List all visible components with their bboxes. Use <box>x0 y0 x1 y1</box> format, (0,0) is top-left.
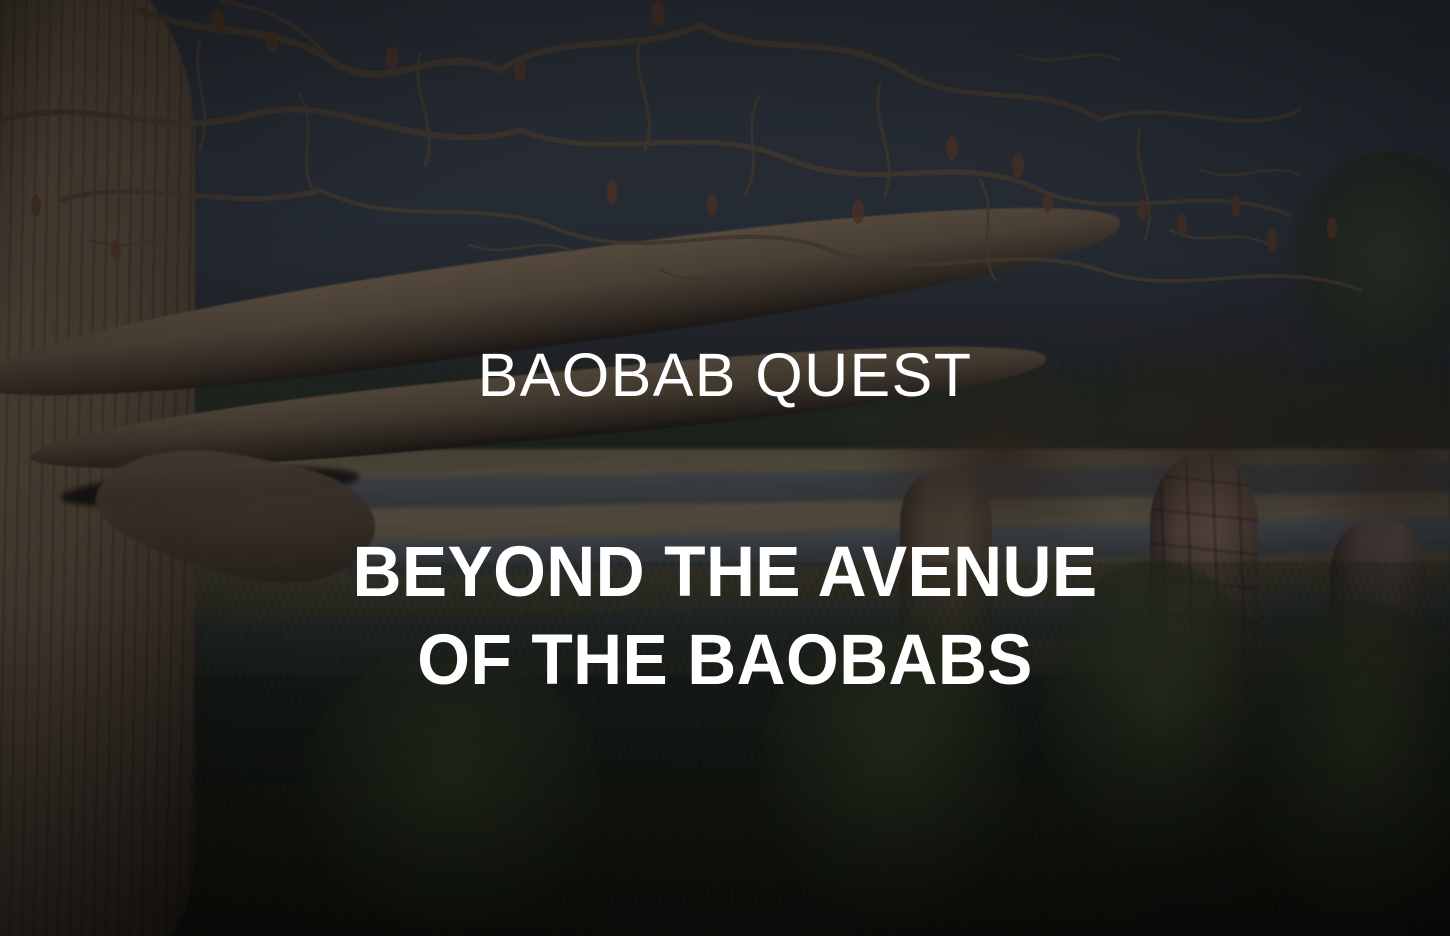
foliage-clump-left <box>300 650 600 930</box>
foliage-clump-right <box>1040 560 1270 860</box>
foliage-clump-center <box>760 620 1020 920</box>
background-photo <box>0 0 1450 936</box>
hero-banner: BAOBAB QUEST BEYOND THE AVENUE OF THE BA… <box>0 0 1450 936</box>
